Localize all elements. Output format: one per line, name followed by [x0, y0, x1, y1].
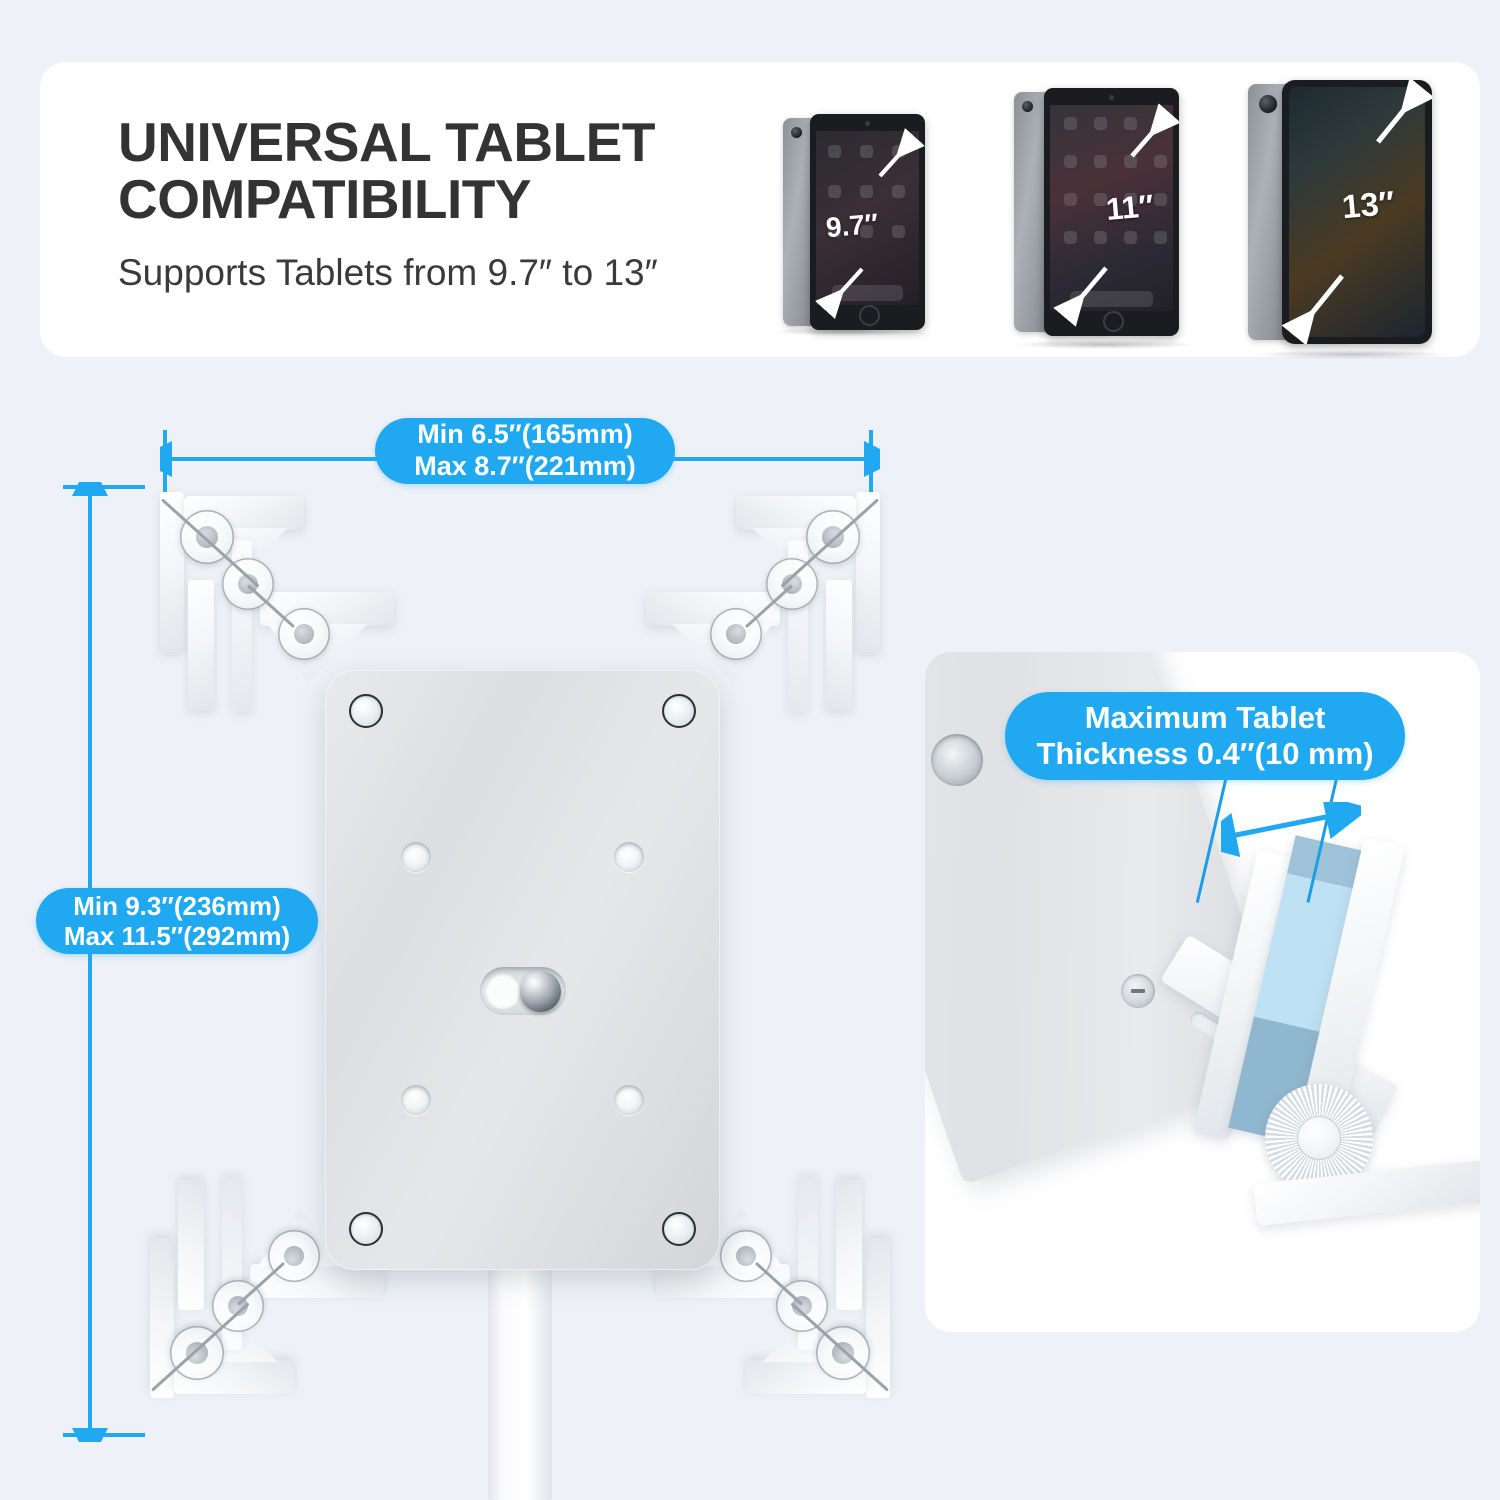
height-tick-bottom: [63, 1433, 145, 1437]
corner-screw-top-right: [662, 694, 696, 728]
vesa-hole-top-left: [401, 842, 431, 872]
tablet-front-view: 11″: [1044, 88, 1179, 336]
corner-screw-bottom-left: [349, 1212, 383, 1246]
mount-post: [488, 1250, 552, 1500]
vesa-hole-bottom-left: [401, 1085, 431, 1115]
slot-hole: [485, 973, 521, 1009]
tablet-mount-product: [110, 470, 930, 1500]
thickness-badge-line-2: Thickness 0.4″(10 mm): [1036, 736, 1373, 772]
pivot-joint-c: [720, 1230, 772, 1282]
vesa-mount-plate: [325, 670, 720, 1270]
width-dimension-badge: Min 6.5″(165mm) Max 8.7″(221mm): [375, 418, 675, 484]
tablet-thumb-11: 11″: [992, 68, 1227, 358]
width-badge-line-2: Max 8.7″(221mm): [414, 451, 636, 483]
chrome-ball-knob[interactable]: [520, 971, 561, 1012]
tablet-size-label: 13″: [1340, 184, 1396, 226]
width-tick-left: [163, 430, 167, 492]
infographic-stage: UNIVERSAL TABLET COMPATIBILITY Supports …: [0, 0, 1500, 1500]
thickness-badge: Maximum Tablet Thickness 0.4″(10 mm): [1005, 692, 1405, 780]
page-title-line-1: UNIVERSAL TABLET: [118, 114, 778, 171]
pivot-joint-c: [278, 608, 330, 660]
height-dimension-badge: Min 9.3″(236mm) Max 11.5″(292mm): [36, 888, 318, 954]
arm-rail-mid: [178, 1180, 204, 1310]
tablet-size-label: 11″: [1105, 188, 1156, 228]
tablet-shadow: [1014, 340, 1194, 349]
width-tick-right: [869, 430, 873, 492]
tablet-thumb-13: 13″: [1228, 62, 1483, 367]
vesa-hole-top-right: [614, 842, 644, 872]
arm-rail-mid: [826, 580, 852, 710]
height-tick-top: [63, 485, 145, 489]
arm-rail-mid: [188, 580, 214, 710]
inset-plate-screw: [1121, 974, 1155, 1008]
width-badge-line-1: Min 6.5″(165mm): [417, 419, 633, 451]
rear-camera-icon: [1258, 94, 1278, 114]
arm-rail-mid: [836, 1180, 862, 1310]
vesa-hole-bottom-right: [614, 1085, 644, 1115]
height-dimension-arrow: [70, 482, 110, 1442]
height-badge-line-2: Max 11.5″(292mm): [64, 921, 290, 951]
tablet-front-view: 13″: [1282, 80, 1432, 344]
inset-plate-hole: [931, 734, 983, 786]
pivot-joint-c: [268, 1230, 320, 1282]
corner-screw-top-left: [349, 694, 383, 728]
tablet-front-view: 9.7″: [810, 114, 925, 330]
page-subtitle: Supports Tablets from 9.7″ to 13″: [118, 252, 778, 294]
corner-screw-bottom-right: [662, 1212, 696, 1246]
rear-camera-icon: [790, 126, 803, 139]
height-badge-line-1: Min 9.3″(236mm): [73, 891, 281, 921]
headline-block: UNIVERSAL TABLET COMPATIBILITY Supports …: [118, 114, 778, 294]
tablet-size-label: 9.7″: [825, 208, 880, 244]
tablet-thumb-9-7: 9.7″: [755, 84, 955, 344]
rear-camera-icon: [1021, 100, 1034, 113]
thickness-badge-line-1: Maximum Tablet: [1085, 700, 1326, 736]
center-adjust-slot[interactable]: [480, 967, 566, 1015]
header-card: UNIVERSAL TABLET COMPATIBILITY Supports …: [40, 62, 1480, 357]
page-title-line-2: COMPATIBILITY: [118, 171, 778, 228]
tablet-shadow: [1254, 350, 1450, 359]
thickness-double-arrow-icon: [1221, 802, 1361, 862]
